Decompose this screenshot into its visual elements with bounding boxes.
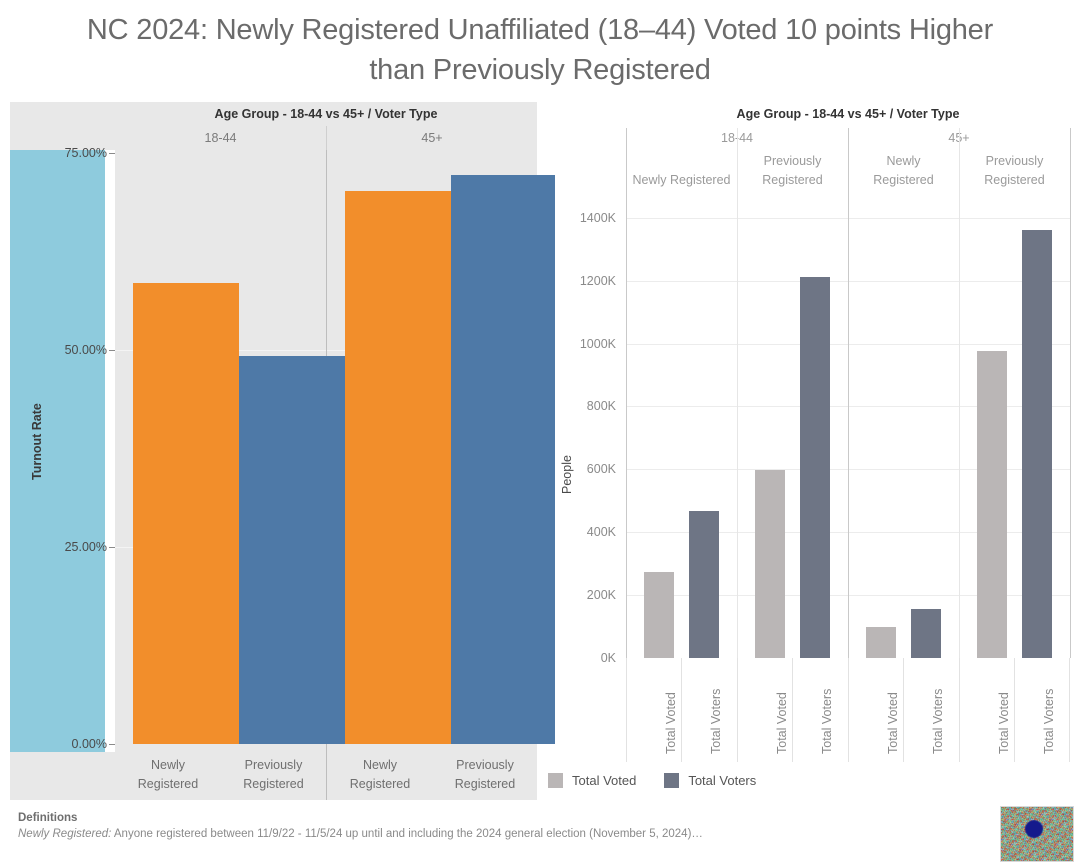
definitions-term: Newly Registered: [18,828,111,840]
legend-item-total-voters[interactable]: Total Voters [664,773,756,788]
bar-turnout-18-44-previously[interactable] [239,356,345,744]
right-type-label-3-line1: Previously [986,154,1044,168]
left-ytick-75: 75.00% [65,146,107,160]
bar-total-voters-group-0[interactable] [689,511,719,658]
left-xlabel-0[interactable]: Newly Registered [115,756,221,800]
right-xtick-0 [626,658,627,762]
right-pane-divider-3 [959,128,960,658]
definitions-text: Anyone registered between 11/9/22 - 11/5… [111,828,703,840]
right-pane-divider-0 [626,128,627,658]
right-ytick-1000K: 1000K [580,337,616,351]
left-xlabel-2-line2: Registered [350,777,410,791]
bar-turnout-45plus-previously[interactable] [451,175,555,744]
left-chart-header: Age Group - 18-44 vs 45+ / Voter Type [115,102,537,126]
left-ytick-0: 0.00% [72,737,107,751]
right-xtick-3 [792,658,793,762]
right-xtick-2 [737,658,738,762]
page-title-line2: than Previously Registered [0,50,1080,90]
bar-total-voted-group-1[interactable] [755,470,785,658]
left-y-axis[interactable]: 75.00% 50.00% 25.00% 0.00% Turnout Rate [10,150,115,752]
left-xlabel-1[interactable]: Previously Registered [221,756,326,800]
right-ytick-1400K: 1400K [580,211,616,225]
left-xlabel-3-line1: Previously [456,758,514,772]
left-group-label-18-44: 18-44 [115,126,326,150]
legend-swatch-total-voters [664,773,679,788]
legend-item-total-voted[interactable]: Total Voted [548,773,636,788]
definitions-footer: Definitions Newly Registered: Anyone reg… [18,810,978,842]
right-type-label-0[interactable]: Newly Registered [626,148,737,192]
left-xlabel-2-line1: Newly [363,758,397,772]
right-type-label-3[interactable]: Previously Registered [959,148,1070,192]
left-tickmark-75 [109,153,115,154]
legend-label-total-voted: Total Voted [572,773,636,788]
right-type-label-1-line1: Previously [764,154,822,168]
left-header-corner [10,102,115,150]
right-xtick-end [1069,658,1070,762]
left-xlabel-3-line2: Registered [455,777,515,791]
left-group-label-45plus: 45+ [326,126,537,150]
left-tickmark-0 [109,744,115,745]
left-ytick-25: 25.00% [65,540,107,554]
bar-turnout-45plus-newly[interactable] [345,191,451,744]
left-xlabel-2[interactable]: Newly Registered [327,756,433,800]
right-ytick-800K: 800K [587,399,616,413]
right-chart-header: Age Group - 18-44 vs 45+ / Voter Type [626,102,1070,126]
left-xlabel-3[interactable]: Previously Registered [433,756,537,800]
turnout-rate-chart: Age Group - 18-44 vs 45+ / Voter Type 18… [10,102,537,800]
right-xlabel-5[interactable]: Total Voters [931,689,945,754]
right-ytick-0K: 0K [601,651,616,665]
bar-total-voters-group-1[interactable] [800,277,830,658]
right-xlabel-0[interactable]: Total Voted [664,692,678,754]
left-xlabel-1-line2: Registered [243,777,303,791]
left-tickmark-50 [109,350,115,351]
legend-swatch-total-voted [548,773,563,788]
right-xlabel-3[interactable]: Total Voters [820,689,834,754]
right-legend: Total Voted Total Voters [548,768,756,792]
bar-turnout-18-44-newly[interactable] [133,283,239,744]
right-type-label-2-line2: Registered [873,173,933,187]
right-plot-area [626,194,1070,658]
right-xtick-1 [681,658,682,762]
bar-total-voted-group-2[interactable] [866,627,896,658]
right-type-label-1-line2: Registered [762,173,822,187]
left-foot-corner [10,752,115,800]
thumbnail-canvas [1001,807,1073,861]
right-xtick-7 [1014,658,1015,762]
left-tickmark-25 [109,547,115,548]
right-type-label-2[interactable]: Newly Registered [848,148,959,192]
right-xlabel-1[interactable]: Total Voters [709,689,723,754]
definitions-heading: Definitions [18,810,978,826]
right-ytick-1200K: 1200K [580,274,616,288]
left-xlabel-1-line1: Previously [245,758,303,772]
right-pane-divider-2 [848,128,849,658]
page-title-line1: NC 2024: Newly Registered Unaffiliated (… [0,10,1080,50]
bar-total-voters-group-2[interactable] [911,609,941,658]
definitions-body: Newly Registered: Anyone registered betw… [18,826,978,842]
right-xlabel-6[interactable]: Total Voted [997,692,1011,754]
right-xtick-5 [903,658,904,762]
right-xlabel-2[interactable]: Total Voted [775,692,789,754]
right-xlabel-7[interactable]: Total Voters [1042,689,1056,754]
bar-total-voted-group-0[interactable] [644,572,674,658]
right-ytick-400K: 400K [587,525,616,539]
people-counts-chart: Age Group - 18-44 vs 45+ / Voter Type 18… [548,102,1080,802]
right-y-axis[interactable]: People 0K200K400K600K800K1000K1200K1400K [548,194,626,658]
right-type-label-3-line2: Registered [984,173,1044,187]
left-plot-area [115,150,537,752]
right-y-axis-title: People [560,455,574,494]
left-x-axis: Newly Registered Previously Registered N… [10,752,537,800]
right-ytick-600K: 600K [587,462,616,476]
preview-thumbnail[interactable] [1000,806,1074,862]
right-type-label-2-line1: Newly [886,154,920,168]
right-type-label-0-line1: Newly Registered [633,173,731,187]
right-xlabel-4[interactable]: Total Voted [886,692,900,754]
right-x-axis: Total VotedTotal VotersTotal VotedTotal … [626,658,1070,762]
bar-total-voters-group-3[interactable] [1022,230,1052,658]
left-ytick-50: 50.00% [65,343,107,357]
right-ytick-200K: 200K [587,588,616,602]
right-type-label-1[interactable]: Previously Registered [737,148,848,192]
bar-total-voted-group-3[interactable] [977,351,1007,658]
right-pane-divider-4 [1070,128,1071,658]
left-xlabel-0-line1: Newly [151,758,185,772]
page-title: NC 2024: Newly Registered Unaffiliated (… [0,10,1080,90]
right-xtick-4 [848,658,849,762]
left-xlabel-0-line2: Registered [138,777,198,791]
legend-label-total-voters: Total Voters [688,773,756,788]
right-pane-divider-1 [737,128,738,658]
left-y-axis-title: Turnout Rate [30,403,44,480]
right-xtick-6 [959,658,960,762]
